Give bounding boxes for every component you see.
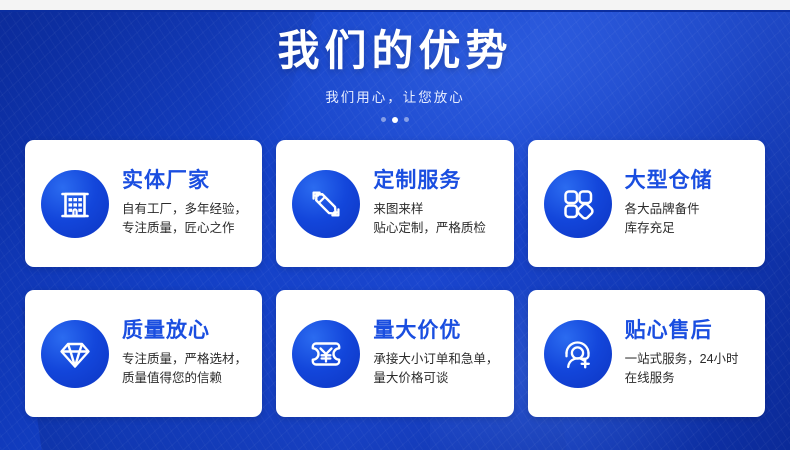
card-text: 定制服务 来图来样 贴心定制，严格质检	[373, 169, 500, 238]
card-description-line: 各大品牌备件	[625, 200, 752, 219]
pencil-ruler-icon	[306, 184, 346, 224]
card-text: 大型仓储 各大品牌备件 库存充足	[625, 169, 752, 238]
card-title: 质量放心	[122, 319, 249, 342]
top-white-strip	[0, 0, 790, 10]
advantage-card[interactable]: 量大价优 承接大小订单和急单， 量大价格可谈	[276, 290, 513, 417]
card-text: 质量放心 专注质量，严格选材， 质量值得您的信赖	[122, 319, 249, 388]
advantage-card[interactable]: 质量放心 专注质量，严格选材， 质量值得您的信赖	[25, 290, 262, 417]
card-title: 贴心售后	[625, 319, 752, 342]
top-divider-line	[0, 10, 790, 12]
card-title: 实体厂家	[122, 169, 249, 192]
card-title: 大型仓储	[625, 169, 752, 192]
card-title: 量大价优	[373, 319, 500, 342]
icon-circle	[544, 320, 612, 388]
card-title: 定制服务	[373, 169, 500, 192]
card-description-line: 贴心定制，严格质检	[373, 219, 500, 238]
card-description-line: 一站式服务，24小时	[625, 350, 752, 369]
grid-blocks-icon	[558, 184, 598, 224]
carousel-dot-1[interactable]	[381, 117, 386, 122]
icon-circle	[544, 170, 612, 238]
card-description: 专注质量，严格选材， 质量值得您的信赖	[122, 350, 249, 389]
card-text: 量大价优 承接大小订单和急单， 量大价格可谈	[373, 319, 500, 388]
advantage-card[interactable]: 贴心售后 一站式服务，24小时 在线服务	[528, 290, 765, 417]
building-icon	[55, 184, 95, 224]
card-description-line: 来图来样	[373, 200, 500, 219]
page-title: 我们的优势	[0, 28, 790, 73]
card-description-line: 质量值得您的信赖	[122, 369, 249, 388]
headset-person-add-icon	[558, 334, 598, 374]
card-description-line: 库存充足	[625, 219, 752, 238]
card-description-line: 专注质量，严格选材，	[122, 350, 249, 369]
diamond-icon	[55, 334, 95, 374]
icon-circle	[41, 320, 109, 388]
advantage-card[interactable]: 大型仓储 各大品牌备件 库存充足	[528, 140, 765, 267]
icon-circle	[292, 320, 360, 388]
advantages-banner: 我们的优势 我们用心，让您放心	[0, 0, 790, 450]
ticket-yuan-icon	[306, 334, 346, 374]
card-description-line: 承接大小订单和急单，	[373, 350, 500, 369]
card-description-line: 量大价格可谈	[373, 369, 500, 388]
card-description-line: 在线服务	[625, 369, 752, 388]
card-description: 来图来样 贴心定制，严格质检	[373, 200, 500, 239]
carousel-dot-2[interactable]	[392, 117, 398, 123]
card-description: 自有工厂，多年经验， 专注质量，匠心之作	[122, 200, 249, 239]
carousel-dots	[0, 117, 790, 123]
banner-header: 我们的优势 我们用心，让您放心	[0, 0, 790, 123]
card-description-line: 自有工厂，多年经验，	[122, 200, 249, 219]
card-description-line: 专注质量，匠心之作	[122, 219, 249, 238]
advantage-card[interactable]: 定制服务 来图来样 贴心定制，严格质检	[276, 140, 513, 267]
icon-circle	[41, 170, 109, 238]
card-text: 贴心售后 一站式服务，24小时 在线服务	[625, 319, 752, 388]
advantage-card[interactable]: 实体厂家 自有工厂，多年经验， 专注质量，匠心之作	[25, 140, 262, 267]
card-description: 一站式服务，24小时 在线服务	[625, 350, 752, 389]
card-text: 实体厂家 自有工厂，多年经验， 专注质量，匠心之作	[122, 169, 249, 238]
card-description: 各大品牌备件 库存充足	[625, 200, 752, 239]
card-description: 承接大小订单和急单， 量大价格可谈	[373, 350, 500, 389]
advantage-card-grid: 实体厂家 自有工厂，多年经验， 专注质量，匠心之作	[25, 140, 765, 417]
icon-circle	[292, 170, 360, 238]
carousel-dot-3[interactable]	[404, 117, 409, 122]
page-subtitle: 我们用心，让您放心	[0, 86, 790, 106]
